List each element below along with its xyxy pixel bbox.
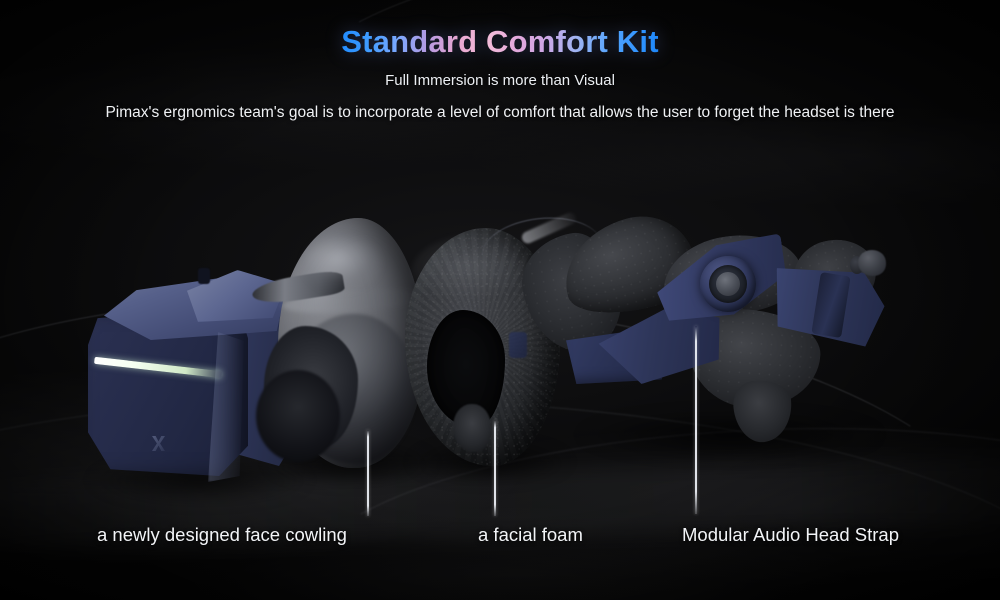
callout-label-head-strap: Modular Audio Head Strap: [682, 524, 899, 546]
callout-label-face-cowling: a newly designed face cowling: [97, 524, 347, 546]
product-banner: Standard Comfort Kit Full Immersion is m…: [0, 0, 1000, 600]
leader-line-head-strap: [695, 326, 697, 514]
leader-line-face-cowling: [367, 430, 369, 516]
leader-line-facial-foam: [494, 420, 496, 516]
callout-label-facial-foam: a facial foam: [478, 524, 583, 546]
callout-group: a newly designed face cowling a facial f…: [0, 0, 1000, 600]
